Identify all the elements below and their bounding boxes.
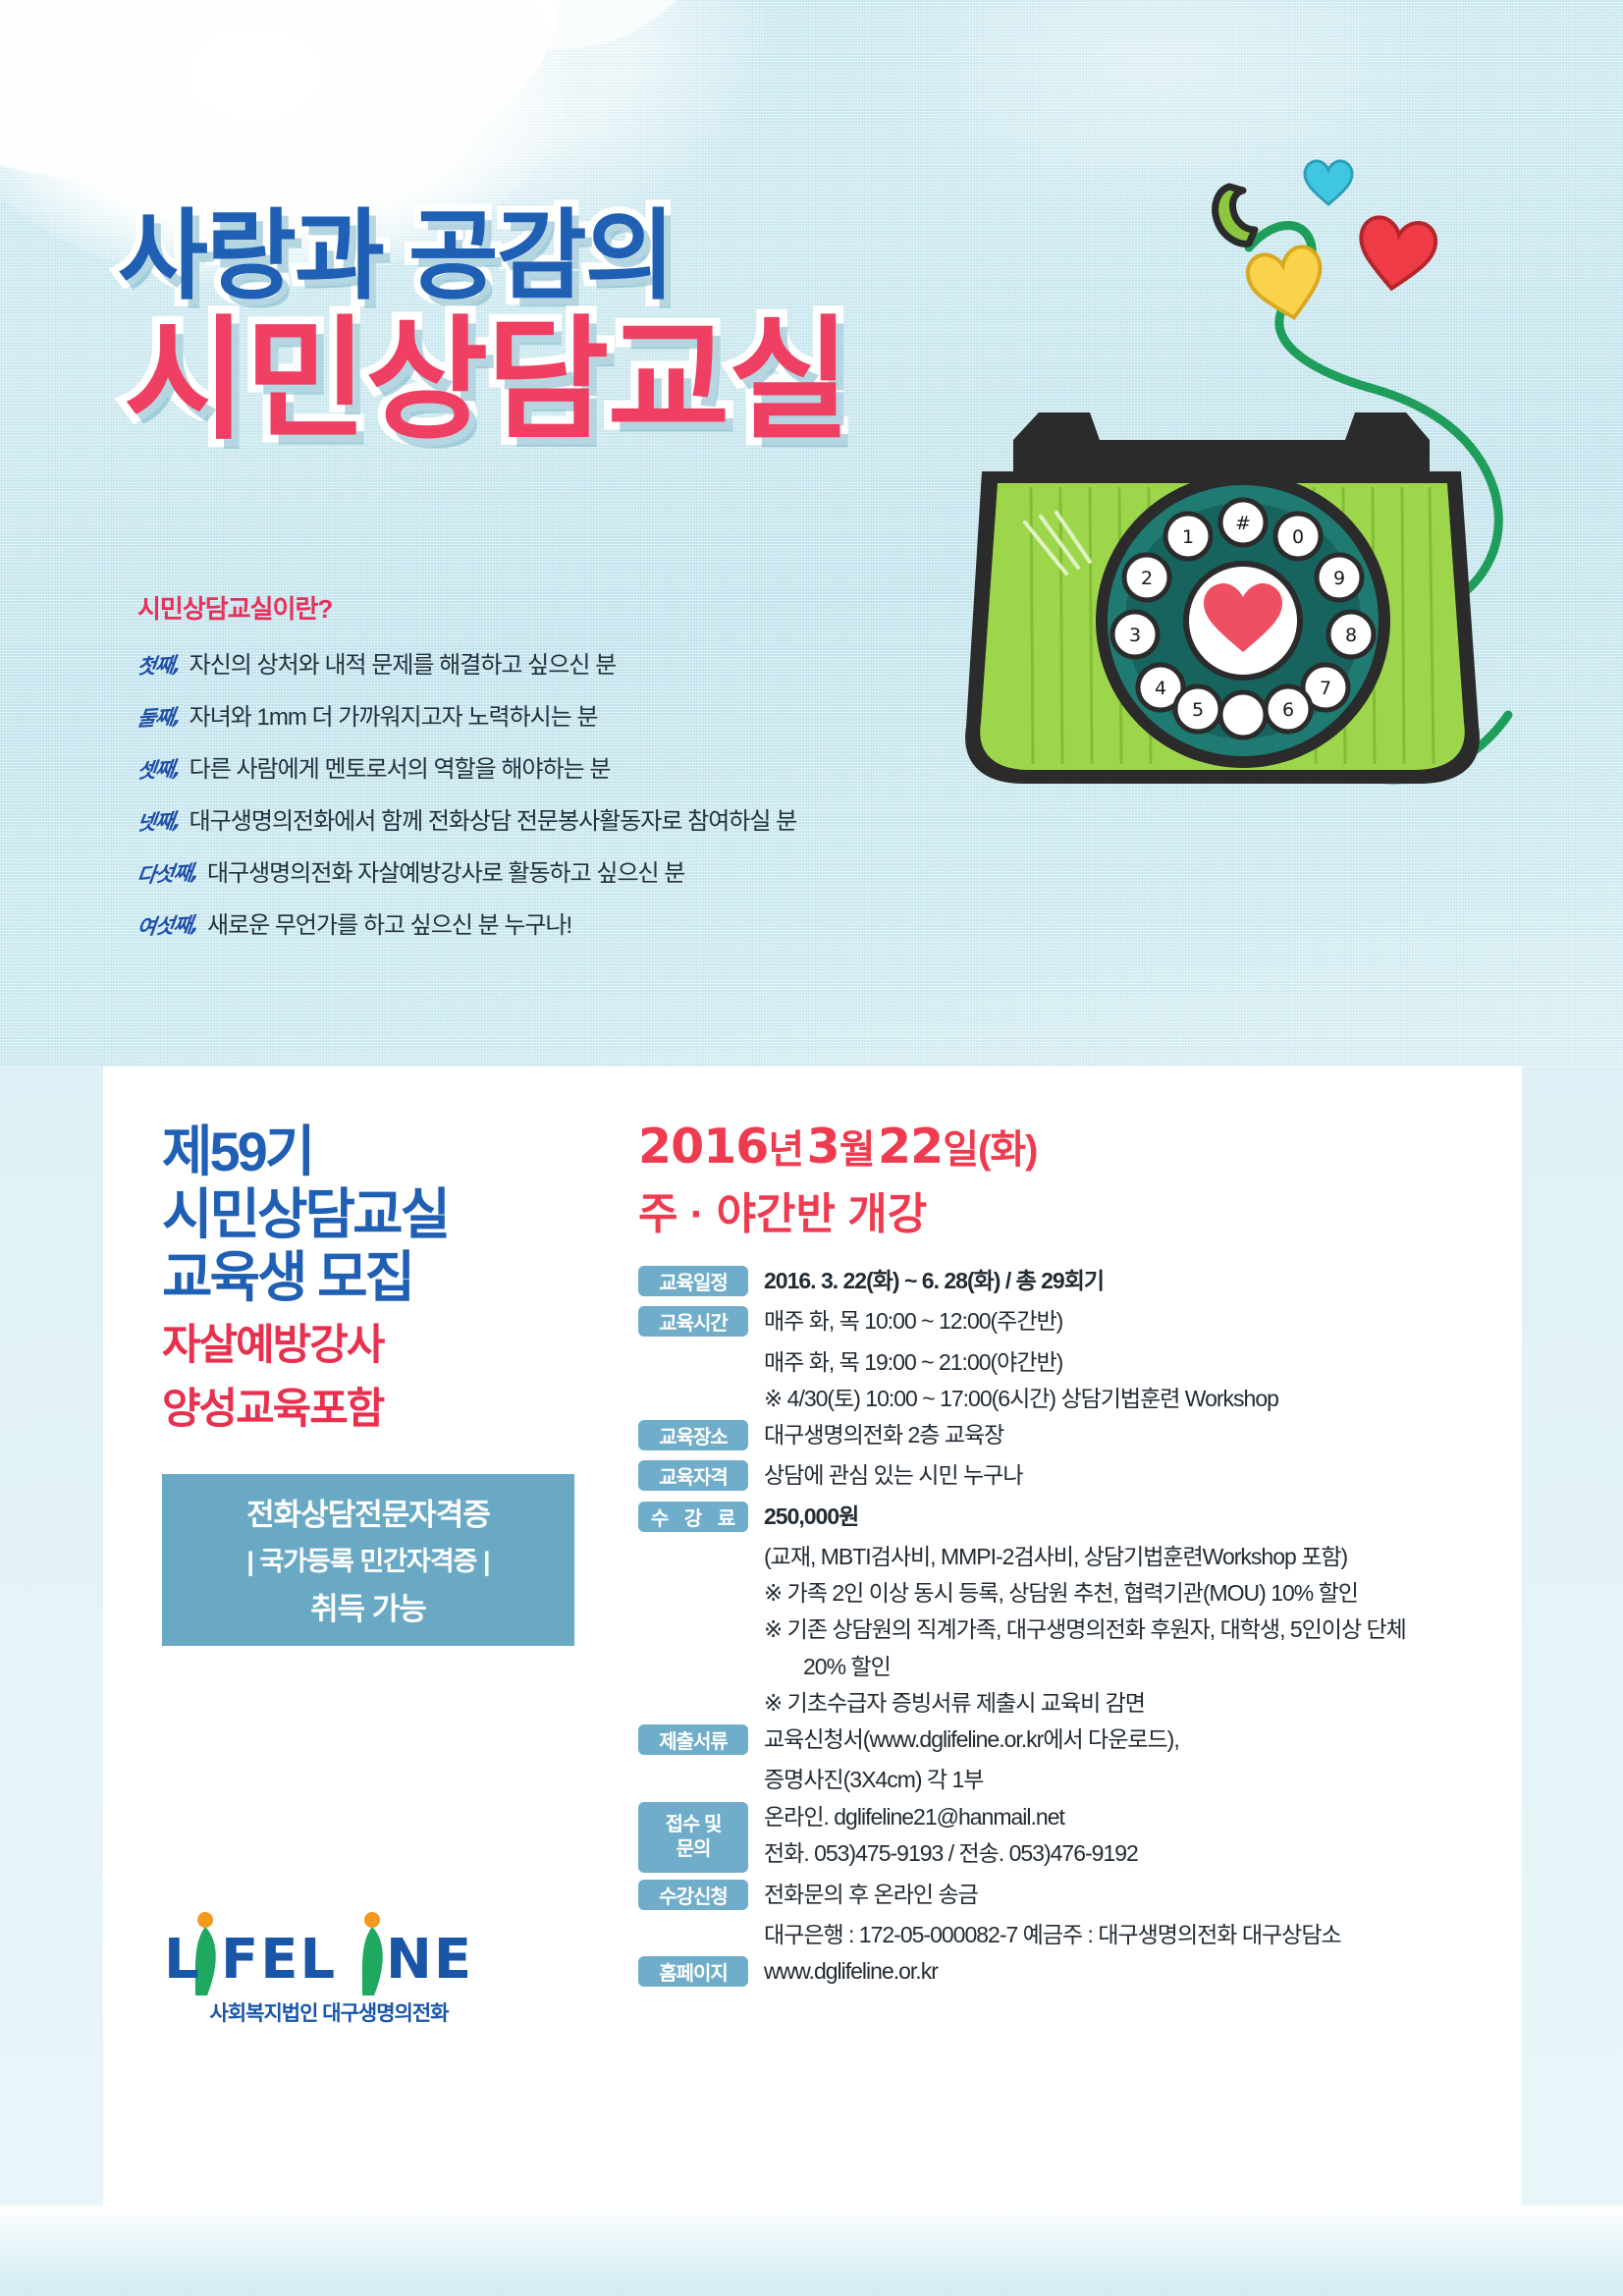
row-value: 대구생명의전화 2층 교육장 [764,1417,1502,1453]
row-subline: ※ 4/30(토) 10:00 ~ 17:00(6시간) 상담기법훈련 Work… [764,1381,1502,1417]
telephone-illustration: # 1 2 3 4 5 6 7 8 9 0 [923,177,1571,923]
intro-item-text: 새로운 무언가를 하고 싶으신 분 누구나! [207,905,571,940]
intro-item-ordinal: 셋째, [135,753,183,785]
date-month-suffix: 월 [839,1128,875,1172]
row-subline: ※ 가족 2인 이상 동시 등록, 상담원 추천, 협력기관(MOU) 10% … [764,1575,1502,1612]
row-subline: ※ 기존 상담원의 직계가족, 대구생명의전화 후원자, 대학생, 5인이상 단… [764,1612,1502,1648]
intro-item-ordinal: 둘째, [135,701,183,733]
lifeline-logo: L FEL NE 사회복지법인 대구생명의전화 [162,1911,496,2027]
row-tag: 접수 및 문의 [638,1802,748,1873]
row-subline: ※ 기초수급자 증빙서류 제출시 교육비 감면 [764,1685,1502,1722]
bottom-edge-strip [0,2206,1623,2296]
details-panel: 제59기 시민상담교실 교육생 모집 자살예방강사 양성교육포함 전화상담전문자… [103,1066,1522,2206]
certificate-line-2: | 국가등록 민간자격증 | [162,1540,574,1578]
intro-item-ordinal: 첫째, [135,649,183,681]
cloud-shape [0,0,275,177]
headline-line-2: 시민상담교실 [124,312,849,449]
intro-item: 넷째, 대구생명의전화에서 함께 전화상담 전문봉사활동자로 참여하실 분 [137,801,952,836]
svg-text:#: # [1235,513,1251,534]
detail-row-location: 교육장소 대구생명의전화 2층 교육장 [638,1417,1502,1453]
course-title-line-1: 제59기 [162,1121,623,1183]
certificate-box: 전화상담전문자격증 | 국가등록 민간자격증 | 취득 가능 [162,1474,574,1646]
date-day: 22 [878,1119,943,1175]
row-tag: 제출서류 [638,1724,748,1755]
svg-text:3: 3 [1129,625,1141,646]
poster-headline: 사랑과 공감의 시민상담교실 [118,206,849,449]
intro-item-ordinal: 여섯째, [135,908,200,941]
detail-row-documents: 제출서류 교육신청서(www.dglifeline.or.kr에서 다운로드), [638,1722,1502,1758]
left-edge-strip [0,1066,103,2206]
left-column: 제59기 시민상담교실 교육생 모집 자살예방강사 양성교육포함 전화상담전문자… [162,1121,623,1646]
row-tag: 수 강 료 [638,1502,748,1532]
row-value: 교육신청서(www.dglifeline.or.kr에서 다운로드), [764,1722,1502,1758]
row-tag: 교육일정 [638,1266,748,1296]
row-tag-line-1: 접수 및 [666,1813,722,1837]
open-date-line: 2016년 3월 22일(화) [638,1118,1502,1175]
row-subline: 대구은행 : 172-05-000082-7 예금주 : 대구생명의전화 대구상… [764,1917,1502,1953]
intro-item-ordinal: 넷째, [135,805,183,837]
certificate-line-3: 취득 가능 [162,1584,574,1628]
intro-item-text: 자녀와 1mm 더 가까워지고자 노력하시는 분 [189,697,598,732]
row-value[interactable]: www.dglifeline.or.kr [764,1953,1502,1990]
open-class-line: 주 · 야간반 개강 [638,1178,1502,1241]
intro-item: 첫째, 자신의 상처와 내적 문제를 해결하고 싶으신 분 [137,645,952,680]
svg-text:FEL: FEL [221,1928,337,1992]
heart-icon [1302,157,1355,210]
detail-row-eligibility: 교육자격 상담에 관심 있는 시민 누구나 [638,1457,1502,1494]
logo-mark: L FEL NE [162,1911,496,1995]
svg-text:2: 2 [1141,568,1153,589]
right-column: 2016년 3월 22일(화) 주 · 야간반 개강 교육일정 2016. 3.… [638,1118,1502,1994]
heart-icon [1239,238,1334,333]
row-subline: 매주 화, 목 19:00 ~ 21:00(야간반) [764,1344,1502,1381]
svg-text:1: 1 [1182,526,1194,548]
date-month: 3 [807,1119,839,1175]
intro-section: 시민상담교실이란? 첫째, 자신의 상처와 내적 문제를 해결하고 싶으신 분 … [137,589,952,957]
headline-line-1: 사랑과 공감의 [118,206,849,306]
course-title-line-2: 시민상담교실 [162,1183,623,1246]
intro-item: 여섯째, 새로운 무언가를 하고 싶으신 분 누구나! [137,905,952,940]
svg-text:9: 9 [1333,568,1345,589]
row-subline: 전화. 053)475-9193 / 전송. 053)476-9192 [764,1835,1502,1872]
detail-row-contact: 접수 및 문의 온라인. dglifeline21@hanmail.net 전화… [638,1799,1502,1873]
svg-text:6: 6 [1282,699,1294,721]
row-value: 전화문의 후 온라인 송금 [764,1877,1502,1913]
svg-text:4: 4 [1155,678,1166,699]
intro-item: 둘째, 자녀와 1mm 더 가까워지고자 노력하시는 분 [137,697,952,732]
logo-subtitle: 사회복지법인 대구생명의전화 [162,1997,496,2027]
svg-text:5: 5 [1192,699,1204,721]
svg-text:8: 8 [1345,625,1357,646]
intro-title: 시민상담교실이란? [137,589,952,626]
poster-root: 사랑과 공감의 시민상담교실 시민상담교실이란? 첫째, 자신의 상처와 내적 … [0,0,1623,2296]
row-subline: 증명사진(3X4cm) 각 1부 [764,1762,1502,1798]
svg-text:7: 7 [1320,678,1331,699]
detail-row-schedule: 교육일정 2016. 3. 22(화) ~ 6. 28(화) / 총 29회기 [638,1263,1502,1299]
row-subline: 20% 할인 [803,1649,1502,1685]
intro-item-text: 자신의 상처와 내적 문제를 해결하고 싶으신 분 [189,645,617,680]
course-title-line-3: 교육생 모집 [162,1246,623,1309]
date-year: 2016 [638,1119,768,1175]
detail-row-time: 교육시간 매주 화, 목 10:00 ~ 12:00(주간반) [638,1303,1502,1339]
intro-item: 다섯째, 대구생명의전화 자살예방강사로 활동하고 싶으신 분 [137,853,952,888]
svg-text:L: L [164,1928,201,1992]
row-tag-line-2: 문의 [676,1837,711,1862]
logo-graphic: L FEL NE [162,1911,496,1995]
row-tag: 교육자격 [638,1460,748,1491]
row-tag: 수강신청 [638,1880,748,1910]
row-value: 2016. 3. 22(화) ~ 6. 28(화) / 총 29회기 [764,1263,1502,1299]
intro-item-text: 대구생명의전화 자살예방강사로 활동하고 싶으신 분 [207,853,684,888]
intro-item-text: 대구생명의전화에서 함께 전화상담 전문봉사활동자로 참여하실 분 [189,801,797,836]
date-year-suffix: 년 [768,1128,803,1172]
row-subline: (교재, MBTI검사비, MMPI-2검사비, 상담기법훈련Workshop … [764,1539,1502,1575]
row-tag: 홈페이지 [638,1956,748,1987]
heart-icon [1350,209,1443,302]
intro-item-ordinal: 다섯째, [135,856,200,889]
detail-row-website: 홈페이지 www.dglifeline.or.kr [638,1953,1502,1990]
detail-row-fee: 수 강 료 250,000원 [638,1499,1502,1535]
course-subtitle-line-1: 자살예방강사 [162,1320,623,1371]
detail-rows: 교육일정 2016. 3. 22(화) ~ 6. 28(화) / 총 29회기 … [638,1263,1502,1990]
svg-text:NE: NE [386,1928,473,1992]
svg-text:0: 0 [1292,526,1304,548]
intro-item-text: 다른 사람에게 멘토로서의 역할을 해야하는 분 [189,749,611,784]
row-value-group: 온라인. dglifeline21@hanmail.net 전화. 053)47… [764,1799,1502,1873]
date-day-suffix: 일(화) [943,1128,1037,1172]
row-value: 매주 화, 목 10:00 ~ 12:00(주간반) [764,1303,1502,1339]
course-subtitle-line-2: 양성교육포함 [162,1384,623,1435]
right-edge-strip [1522,1066,1623,2206]
row-tag: 교육시간 [638,1306,748,1337]
row-value: 250,000원 [764,1499,1502,1535]
row-tag: 교육장소 [638,1420,748,1450]
row-value: 온라인. dglifeline21@hanmail.net [764,1799,1502,1835]
detail-row-apply: 수강신청 전화문의 후 온라인 송금 [638,1877,1502,1913]
intro-item: 셋째, 다른 사람에게 멘토로서의 역할을 해야하는 분 [137,749,952,784]
row-value: 상담에 관심 있는 시민 누구나 [764,1457,1502,1494]
certificate-line-1: 전화상담전문자격증 [162,1490,574,1534]
